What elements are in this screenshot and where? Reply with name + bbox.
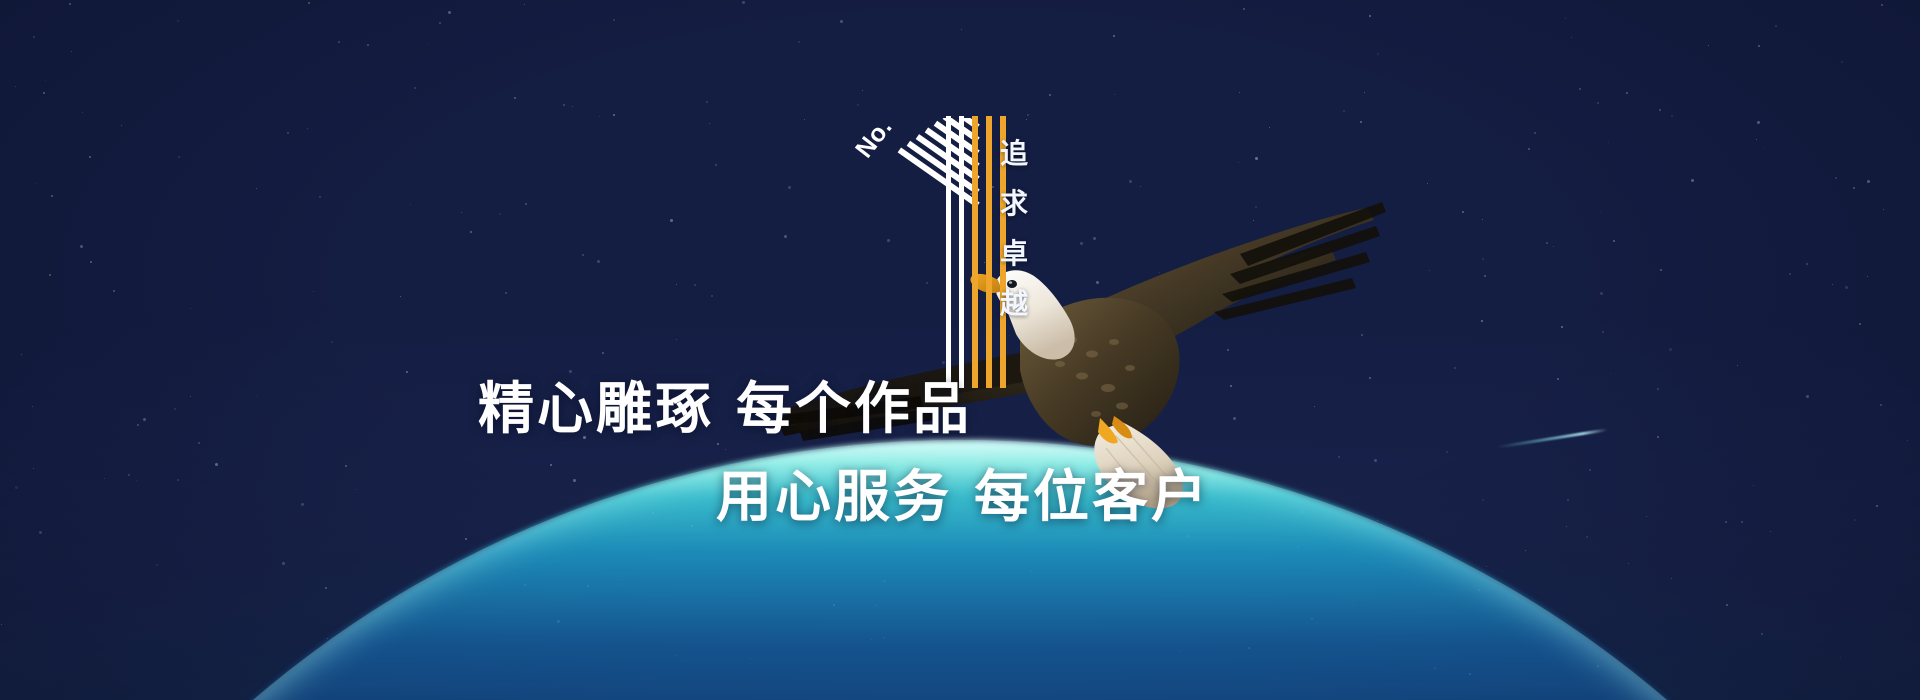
logo-bar-2 [972, 116, 978, 388]
headline-1-part-a: 精心雕琢 [478, 377, 714, 442]
headline-line-2: 用心服务每位客户 [716, 470, 1210, 526]
headline-2-part-b: 每位客户 [974, 465, 1210, 530]
hero-banner: No. 追求卓越 精心雕琢每个作品 用心服务每位客户 [0, 0, 1920, 700]
vertical-slogan-char-0: 追 [986, 140, 1042, 168]
vertical-slogan-char-1: 求 [986, 190, 1042, 218]
vertical-slogan-char-2: 卓 [986, 240, 1042, 268]
logo-bar-1 [959, 116, 964, 388]
vertical-slogan-char-3: 越 [986, 290, 1042, 318]
headline-line-1: 精心雕琢每个作品 [478, 382, 972, 438]
logo-bar-0 [946, 116, 951, 388]
headline-2-part-a: 用心服务 [716, 465, 952, 530]
vertical-slogan: 追求卓越 [986, 140, 1042, 340]
headline-1-part-b: 每个作品 [736, 377, 972, 442]
